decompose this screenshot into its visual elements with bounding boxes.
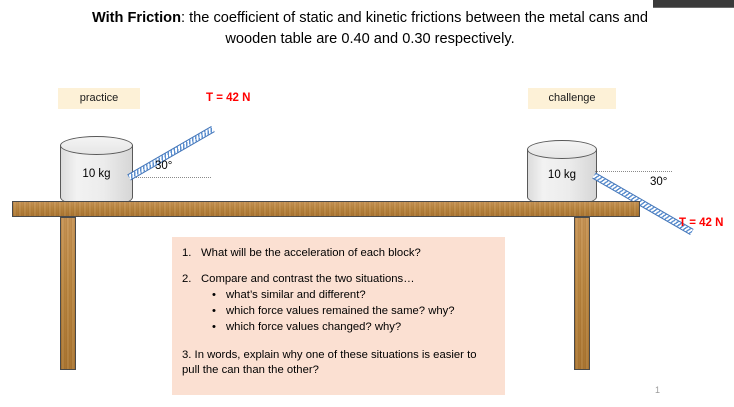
rope-left (127, 126, 215, 181)
page-title-rest: : the coefficient of static and kinetic … (181, 10, 648, 47)
table-leg-right (574, 217, 590, 370)
tension-label-left: T = 42 N (206, 92, 250, 104)
question-item-3: 3. In words, explain why one of these si… (182, 335, 495, 378)
can-right-mass-label: 10 kg (527, 169, 597, 181)
bullet-dot-icon: • (212, 303, 226, 319)
question-2-text: Compare and contrast the two situations… (201, 272, 495, 287)
can-left: 10 kg (60, 136, 133, 207)
question-panel: 1. What will be the acceleration of each… (172, 237, 505, 395)
angle-label-right: 30° (650, 176, 667, 188)
horizontal-reference-line-right (595, 171, 672, 172)
question-1-text: What will be the acceleration of each bl… (201, 246, 495, 261)
question-2-bullet-1-text: what’s similar and different? (226, 287, 366, 303)
can-left-mass-label: 10 kg (60, 168, 133, 180)
page-title: With Friction: the coefficient of static… (70, 8, 670, 50)
question-2-bullet-2-text: which force values remained the same? wh… (226, 303, 455, 319)
can-left-top-ellipse (60, 136, 133, 155)
badge-challenge: challenge (528, 88, 616, 109)
question-2-number: 2. (182, 272, 201, 287)
bullet-dot-icon: • (212, 319, 226, 335)
table-leg-left (60, 217, 76, 370)
table-top (12, 201, 640, 217)
can-right: 10 kg (527, 140, 597, 206)
question-2-bullet-3: • which force values changed? why? (182, 319, 495, 335)
question-spacer (182, 261, 495, 272)
can-right-top-ellipse (527, 140, 597, 159)
slide-canvas: With Friction: the coefficient of static… (0, 0, 734, 407)
tension-label-right: T = 42 N (679, 217, 723, 229)
question-2-bullet-3-text: which force values changed? why? (226, 319, 401, 335)
angle-label-left: 30° (155, 160, 172, 172)
question-2-bullet-2: • which force values remained the same? … (182, 303, 495, 319)
horizontal-reference-line-left (131, 177, 211, 178)
toolbar-edge-sliver (653, 0, 734, 8)
page-number: 1 (655, 385, 660, 395)
bullet-dot-icon: • (212, 287, 226, 303)
question-item-2: 2. Compare and contrast the two situatio… (182, 272, 495, 287)
badge-practice: practice (58, 88, 140, 109)
question-2-bullet-1: • what’s similar and different? (182, 287, 495, 303)
question-1-number: 1. (182, 246, 201, 261)
page-title-emphasis: With Friction (92, 10, 181, 26)
question-item-1: 1. What will be the acceleration of each… (182, 246, 495, 261)
